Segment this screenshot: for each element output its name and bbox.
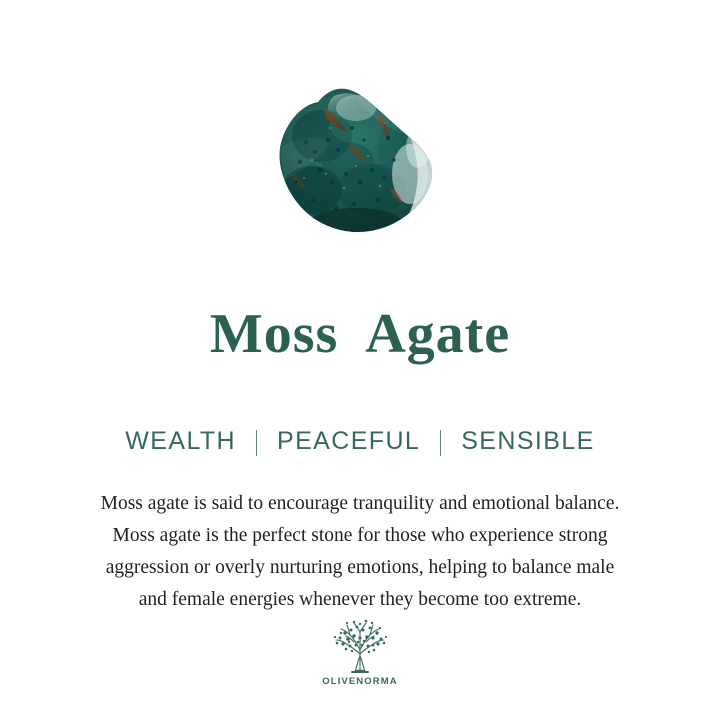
tree-of-life-icon: [324, 616, 396, 674]
moss-agate-info-card: Moss Agate WEALTH PEACEFUL SENSIBLE Moss…: [0, 0, 720, 720]
keyword-list: WEALTH PEACEFUL SENSIBLE: [125, 427, 594, 456]
description-line-1: Moss agate is said to encourage tranquil…: [40, 488, 680, 520]
keyword-peaceful: PEACEFUL: [277, 427, 420, 456]
description-text: Moss agate is said to encourage tranquil…: [40, 488, 680, 616]
moss-agate-stone-photo: [260, 78, 460, 243]
description-line-4: and female energies whenever they become…: [40, 584, 680, 616]
description-line-3: aggression or overly nurturing emotions,…: [40, 552, 680, 584]
keyword-wealth: WEALTH: [125, 427, 236, 456]
keyword-separator-1: [256, 430, 257, 456]
keyword-separator-2: [440, 430, 441, 456]
page-title: Moss Agate: [210, 305, 510, 364]
keyword-sensible: SENSIBLE: [461, 427, 594, 456]
product-image: [260, 78, 460, 243]
description-line-2: Moss agate is the perfect stone for thos…: [40, 520, 680, 552]
brand-name: OLIVENORMA: [322, 676, 397, 687]
brand-logo: OLIVENORMA: [0, 616, 720, 687]
